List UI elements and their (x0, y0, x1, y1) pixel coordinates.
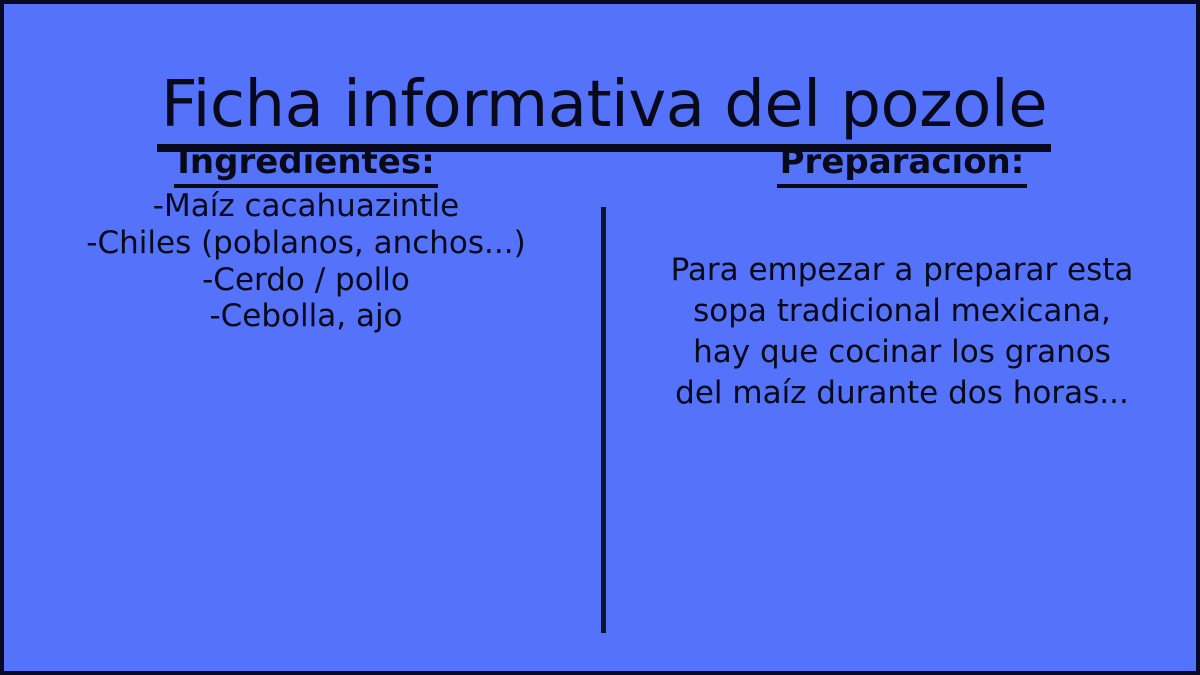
preparation-heading: Preparación: (777, 144, 1028, 188)
ingredients-heading: Ingredientes: (174, 144, 437, 188)
list-item: -Chiles (poblanos, anchos...) (8, 225, 604, 262)
preparation-column: Preparación: Para empezar a preparar est… (604, 144, 1200, 414)
content-columns: Ingredientes: -Maíz cacahuazintle -Chile… (8, 144, 1200, 664)
preparation-body-text: Para empezar a preparar esta sopa tradic… (604, 250, 1200, 414)
list-item: -Cerdo / pollo (8, 262, 604, 299)
page-title: Ficha informativa del pozole (157, 73, 1051, 152)
list-item: -Cebolla, ajo (8, 298, 604, 335)
list-item: -Maíz cacahuazintle (8, 188, 604, 225)
ingredients-list: -Maíz cacahuazintle -Chiles (poblanos, a… (8, 188, 604, 334)
ingredients-column: Ingredientes: -Maíz cacahuazintle -Chile… (8, 144, 604, 335)
slide-canvas: Ficha informativa del pozole Ingrediente… (0, 0, 1200, 675)
